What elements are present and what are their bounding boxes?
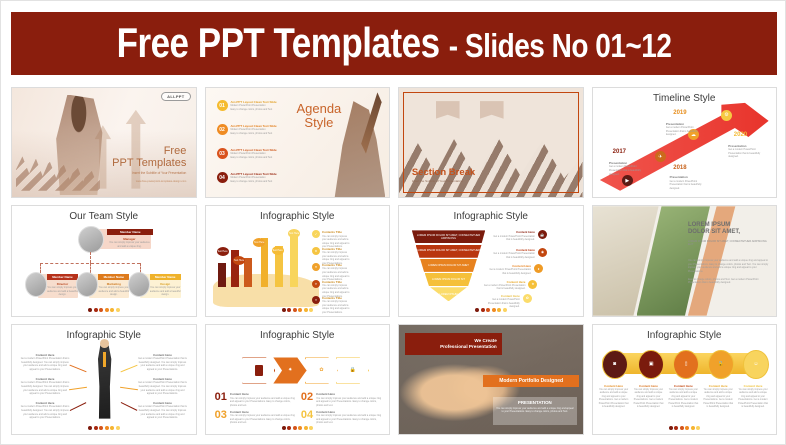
slide-thumbnail-1[interactable]: ALLPPT Free PPT Templates Insert the Sub… [11, 87, 197, 198]
funnel-layer: LOREM IPSUM DOLOR SIT AMET, CONSECTETUER [416, 245, 482, 258]
agenda-bullet: Easy to change colors, photos and Text [231, 132, 277, 136]
agenda-number: 04 [217, 172, 228, 183]
lorem-heading-line-1: LOREM IPSUM [688, 222, 771, 230]
connector-line [70, 402, 87, 411]
grid-icon [255, 365, 263, 377]
team-role-block: Marketing You can simply impress your au… [98, 282, 129, 297]
item-number: 01 [215, 392, 227, 407]
timeline-node-icon[interactable]: ⚙ [721, 110, 732, 121]
funnel-item-icon: ◉ [538, 248, 547, 257]
timeline-year: 2017 [613, 149, 626, 155]
slide-thumbnail-11[interactable]: We Create Professional Presentation Mode… [398, 324, 584, 435]
agenda-number: 03 [217, 148, 228, 159]
chevron-arrow[interactable] [242, 357, 275, 383]
chart-bubble: Text Here [288, 229, 300, 238]
avatar [25, 272, 47, 297]
agenda-number: 02 [217, 124, 228, 135]
funnel-layer: LOREM IPSUM DOLOR SIT AMET [420, 259, 477, 272]
section-break-subtitle: Insert the Subtitle of Your Presentation [412, 179, 475, 183]
modern-portfolio-box: Modern Portfolio Designed [483, 375, 578, 387]
slide-title: Infographic Style [399, 211, 583, 222]
agenda-item[interactable]: 02 ALLPPT Layout Clean Text Slide Modern… [217, 124, 305, 135]
timeline-year: 2018 [673, 165, 686, 171]
legend-icon: ✓ [312, 230, 320, 238]
team-member-tag: Member Name [47, 274, 78, 280]
title-line-2: PPT Templates [112, 157, 186, 169]
item-number: 04 [301, 410, 313, 425]
title-footer: www.free-powerpoint-templates-design.com [112, 180, 186, 183]
timeline-text: Presentation Get a modern PowerPoint Pre… [670, 175, 707, 190]
column-heading: Content Here [703, 384, 734, 388]
pagination-dots[interactable] [12, 308, 196, 312]
team-body: You can simply impress your audience and… [150, 286, 181, 297]
timeline-text: Presentation Get a modern PowerPoint Pre… [666, 122, 705, 137]
title-subtitle: Insert the Subtitle of Your Presentation [112, 171, 186, 175]
banner-title: Free PPT Templates - Slides No 01~12 [117, 20, 672, 67]
content-body: Get a modern PowerPoint Presentation tha… [19, 357, 70, 371]
funnel-item[interactable]: Content Here Get a modern PowerPoint Pre… [489, 230, 577, 241]
content-block[interactable]: Content Here Get a modern PowerPoint Pre… [19, 353, 70, 372]
team-body: You can simply impress your audience and… [107, 241, 151, 248]
lock-icon: 🔒 [349, 365, 357, 377]
column-body: You can simply impress your audience and… [668, 389, 699, 410]
agenda-bullet: Easy to change colors, photos and Text [231, 180, 277, 184]
smile-icon[interactable]: ☺ [743, 350, 769, 379]
team-role-block: Director You can simply impress your aud… [47, 282, 78, 297]
column-body: You can simply impress your audience and… [633, 389, 664, 410]
pagination-dots[interactable] [399, 308, 583, 312]
slide-title: Timeline Style [593, 93, 777, 104]
chevron-arrow[interactable]: 🔒 [336, 357, 369, 383]
slide-thumbnail-5[interactable]: Our Team Style Member Name Manager You c… [11, 205, 197, 316]
content-column[interactable]: Content Here You can simply impress your… [737, 384, 768, 410]
org-connector [90, 252, 91, 263]
item-body: You can simply impress your audience and… [316, 397, 381, 408]
timeline-body: Get a modern PowerPoint Presentation tha… [670, 180, 707, 191]
phone-icon[interactable]: ▯ [673, 350, 699, 379]
businessman-head [100, 339, 109, 348]
team-body: You can simply impress your audience and… [47, 286, 78, 297]
legend-icon: ✦ [312, 296, 320, 304]
we-create-box: We Create Professional Presentation [405, 333, 502, 355]
item-body: You can simply impress your audience and… [230, 414, 295, 425]
presentation-title: PRESENTATION [496, 400, 574, 405]
timeline-body: Get a modern PowerPoint Presentation tha… [666, 126, 705, 137]
slide-thumbnail-12[interactable]: Infographic Style ◙ ▣ ▯ 🔒 ☺ Content Here… [592, 324, 778, 435]
lock-icon[interactable]: 🔒 [708, 350, 734, 379]
pagination-dots[interactable] [12, 426, 196, 430]
slide-title: Infographic Style [593, 330, 777, 341]
content-column[interactable]: Content Here You can simply impress your… [668, 384, 699, 410]
chat-icon: ✿ [317, 365, 325, 377]
content-block[interactable]: Content Here Get a modern PowerPoint Pre… [19, 377, 70, 396]
chart-bar [218, 263, 226, 287]
connector-line [121, 365, 138, 373]
agenda-number: 01 [217, 100, 228, 111]
chart-bubble: Text Here [272, 246, 284, 255]
chart-bar [290, 230, 298, 287]
title-line-1: Free [112, 145, 186, 157]
title-block: Free PPT Templates Insert the Subtitle o… [112, 145, 186, 183]
legend-icon: ★ [312, 247, 320, 255]
team-role-block: Design You can simply impress your audie… [150, 282, 181, 297]
chart-bubble: Text Here [217, 247, 229, 256]
funnel-item-icon: ♦ [534, 264, 543, 273]
lorem-body-2: Easy to change colors, photos and Text. … [688, 278, 771, 285]
team-member-tag: Member Name [98, 274, 129, 280]
lorem-heading-line-2: DOLOR SIT AMET, [688, 229, 771, 237]
monitor-icon[interactable]: ▣ [638, 350, 664, 379]
businessman-tie [103, 352, 106, 367]
chart-bar [244, 258, 252, 288]
column-heading: Content Here [668, 384, 699, 388]
item-body: You can simply impress your audience and… [316, 414, 381, 425]
timeline-year: 2020 [734, 132, 747, 138]
content-block[interactable]: Content Here Get a modern PowerPoint Pre… [137, 353, 188, 372]
funnel-item[interactable]: Content Here Get a modern PowerPoint Pre… [480, 294, 550, 309]
numbered-item[interactable]: 01 Content Here You can simply impress y… [215, 392, 296, 407]
funnel-layer: LOREM IPSUM DOLOR SIT AMET, CONSECTETUER… [412, 230, 485, 243]
item-number: 02 [301, 392, 313, 407]
timeline-year: 2019 [673, 110, 686, 116]
legend-icon: ✈ [312, 280, 320, 288]
agenda-bullet: Easy to change colors, photos and Text [231, 156, 277, 160]
agenda-bullet: Easy to change colors, photos and Text [231, 108, 277, 112]
funnel-item-icon: ★ [528, 280, 537, 289]
slide-thumbnail-6[interactable]: Infographic Style Text Here Text Here Te… [205, 205, 391, 316]
column-body: You can simply impress your audience and… [703, 389, 734, 410]
slide-thumbnail-3[interactable]: Section Break Insert the Subtitle of You… [398, 87, 584, 198]
we-create-line-2: Professional Presentation [440, 344, 497, 350]
banner-title-main: Free PPT Templates [117, 20, 440, 66]
content-body: Get a modern PowerPoint Presentation tha… [137, 405, 188, 419]
item-body: You can simply impress your audience and… [230, 397, 295, 408]
content-body: Get a modern PowerPoint Presentation tha… [137, 381, 188, 395]
item-number: 03 [215, 410, 227, 425]
connector-line [69, 365, 86, 373]
header-banner: Free PPT Templates - Slides No 01~12 [11, 12, 777, 75]
content-column[interactable]: Content Here You can simply impress your… [598, 384, 629, 410]
content-body: Get a modern PowerPoint Presentation tha… [137, 357, 188, 371]
content-block[interactable]: Content Here Get a modern PowerPoint Pre… [137, 401, 188, 420]
funnel-layer: LOREM IPSUM [430, 287, 467, 301]
allppt-logo: ALLPPT [161, 92, 190, 101]
funnel-layer: LOREM IPSUM DOLOR SIT [425, 273, 473, 286]
numbered-item[interactable]: 04 Content Here You can simply impress y… [301, 410, 382, 425]
column-body: You can simply impress your audience and… [598, 389, 629, 410]
content-body: Get a modern PowerPoint Presentation tha… [19, 381, 70, 395]
team-member-tag: Member Name [107, 229, 153, 235]
slide-title: Our Team Style [12, 211, 196, 222]
camera-icon[interactable]: ◙ [602, 350, 628, 379]
timeline-body: Get a modern PowerPoint Presentation tha… [728, 148, 768, 159]
content-block[interactable]: Content Here Get a modern PowerPoint Pre… [19, 401, 70, 420]
funnel-item-body: Get a modern PowerPoint Presentation tha… [489, 252, 535, 259]
section-break-title: Section Break [412, 167, 475, 178]
agenda-item[interactable]: 04 ALLPPT Layout Clean Text Slide Modern… [217, 172, 305, 183]
slide-thumbnail-7[interactable]: Infographic Style LOREM IPSUM DOLOR SIT … [398, 205, 584, 316]
slide-title: Infographic Style [206, 330, 390, 341]
funnel-item-body: Get a modern PowerPoint Presentation tha… [483, 284, 525, 291]
connector-line [69, 387, 87, 391]
pagination-dots[interactable] [593, 426, 777, 430]
funnel-item[interactable]: Content Here Get a modern PowerPoint Pre… [487, 264, 564, 275]
content-body: Get a modern PowerPoint Presentation tha… [19, 405, 70, 419]
banner-title-sub: - Slides No 01~12 [449, 27, 672, 64]
avatar [78, 226, 104, 253]
lorem-body-1: You can simply impress your audience and… [688, 259, 771, 274]
team-role-block: Manager You can simply impress your audi… [107, 237, 151, 248]
content-column[interactable]: Content Here You can simply impress your… [703, 384, 734, 410]
pagination-dots[interactable] [206, 308, 390, 312]
team-body: You can simply impress your audience and… [98, 286, 129, 297]
funnel-item-icon: ☕ [538, 230, 547, 239]
connector-line [121, 402, 138, 411]
funnel-item-body: Get a modern PowerPoint Presentation tha… [489, 235, 535, 242]
timeline-body: Get a modern PowerPoint Presentation tha… [609, 165, 646, 176]
slide-thumbnail-8[interactable]: LOREM IPSUM DOLOR SIT AMET, LOREM IPSUM … [592, 205, 778, 316]
presentation-body: You can simply impress your audience and… [496, 407, 574, 414]
funnel-item-body: Get a modern PowerPoint Presentation tha… [487, 268, 531, 275]
numbered-item[interactable]: 03 Content Here You can simply impress y… [215, 410, 296, 425]
lorem-subheading: LOREM IPSUM DOLOR SIT AMET, CONSECTETUER… [688, 240, 771, 247]
agenda-item[interactable]: 01 ALLPPT Layout Clean Text Slide Modern… [217, 100, 305, 111]
legend-icon: ♥ [312, 263, 320, 271]
funnel-item-icon: ✿ [523, 294, 532, 303]
chevron-arrow[interactable]: ✷ [273, 357, 306, 383]
timeline-text: Presentation Get a modern PowerPoint Pre… [728, 144, 768, 159]
agenda-item[interactable]: 03 ALLPPT Layout Clean Text Slide Modern… [217, 148, 305, 159]
column-heading: Content Here [598, 384, 629, 388]
chevron-arrow[interactable]: ✿ [305, 357, 338, 383]
slide-grid: ALLPPT Free PPT Templates Insert the Sub… [11, 87, 777, 435]
content-column[interactable]: Content Here You can simply impress your… [633, 384, 664, 410]
timeline-text: Presentation Get a modern PowerPoint Pre… [609, 161, 646, 176]
org-connector [40, 263, 41, 273]
section-break-block: Section Break Insert the Subtitle of You… [412, 167, 475, 183]
slide-thumbnail-9[interactable]: Infographic Style Content Here Get a mod… [11, 324, 197, 435]
column-heading: Content Here [633, 384, 664, 388]
content-block[interactable]: Content Here Get a modern PowerPoint Pre… [137, 377, 188, 396]
chart-bubble: Text Here [233, 256, 245, 265]
pagination-dots[interactable] [206, 426, 390, 430]
gear-icon: ✷ [286, 365, 294, 377]
numbered-item[interactable]: 02 Content Here You can simply impress y… [301, 392, 382, 407]
team-member-tag: Member Name [150, 274, 181, 280]
column-heading: Content Here [737, 384, 768, 388]
legend-item[interactable]: ✦ Contents Title You can simply impress … [312, 296, 385, 315]
slide-thumbnail-10[interactable]: Infographic Style ✷ ✿ 🔒 01 Content Here … [205, 324, 391, 435]
slide-thumbnail-2[interactable]: Agenda Style 01 ALLPPT Layout Clean Text… [205, 87, 391, 198]
lorem-text-block: LOREM IPSUM DOLOR SIT AMET, LOREM IPSUM … [688, 222, 771, 286]
template-gallery-page: Free PPT Templates - Slides No 01~12 ALL… [0, 0, 786, 445]
timeline-node-icon[interactable]: ▶ [622, 175, 633, 186]
presentation-box: PRESENTATION You can simply impress your… [493, 397, 577, 425]
funnel-item[interactable]: Content Here Get a modern PowerPoint Pre… [489, 248, 572, 259]
slide-title: Infographic Style [206, 211, 390, 222]
column-body: You can simply impress your audience and… [737, 389, 768, 410]
slide-thumbnail-4[interactable]: Timeline Style ▶ ✈ ☁ ⚙ 2017 Presentation… [592, 87, 778, 198]
funnel-item[interactable]: Content Here Get a modern PowerPoint Pre… [483, 280, 556, 291]
avatar [128, 272, 150, 297]
